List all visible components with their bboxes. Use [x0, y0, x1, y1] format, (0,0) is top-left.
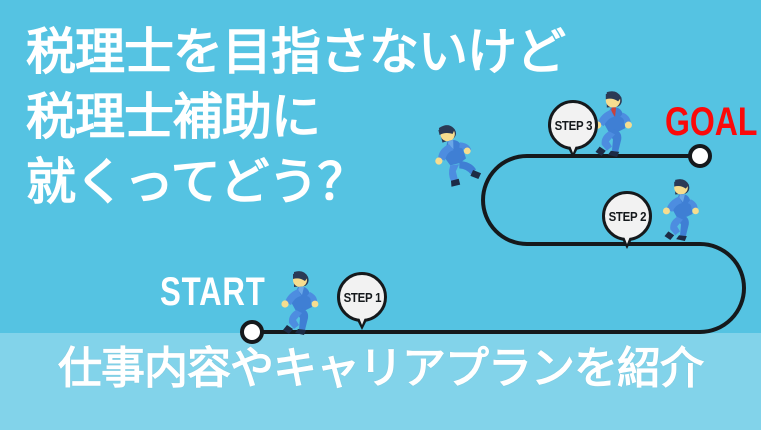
bubble-tail-inner-icon — [358, 315, 366, 325]
runner-icon-step1 — [274, 268, 326, 336]
headline: 税理士を目指さないけど 税理士補助に 就くってどう？ — [26, 20, 496, 215]
bubble-tail-inner-icon — [569, 143, 577, 153]
banner-canvas: 税理士を目指さないけど 税理士補助に 就くってどう？ START GOAL ST… — [0, 0, 761, 430]
bubble-tail-inner-icon — [623, 234, 631, 244]
runner-icon-step2 — [655, 176, 707, 242]
step-marker-1[interactable]: STEP 1 — [337, 272, 393, 334]
headline-line-1: 税理士を目指さないけど — [26, 20, 496, 85]
step-3-label: STEP 3 — [554, 119, 592, 132]
step-marker-3[interactable]: STEP 3 — [548, 100, 604, 162]
goal-node — [690, 146, 710, 166]
step-1-label: STEP 1 — [343, 291, 381, 304]
step-2-label: STEP 2 — [608, 210, 646, 223]
headline-line-2: 税理士補助に — [26, 85, 496, 150]
start-label: START — [160, 270, 266, 314]
runner-icon-leaping — [428, 118, 490, 192]
subtitle-text: 仕事内容やキャリアプランを紹介 — [58, 339, 703, 399]
goal-label: GOAL — [665, 100, 757, 144]
step-marker-2[interactable]: STEP 2 — [602, 191, 658, 253]
headline-line-3: 就くってどう？ — [26, 150, 496, 215]
subtitle: 仕事内容やキャリアプランを紹介 — [0, 339, 761, 399]
